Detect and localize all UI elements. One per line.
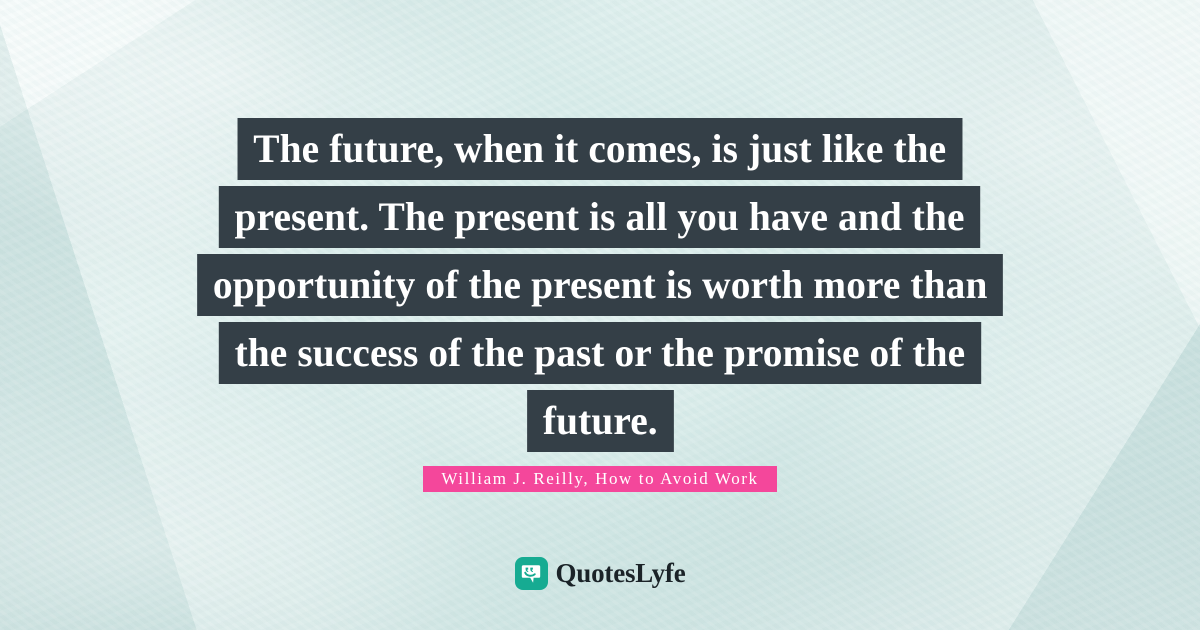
quote-text-block: The future, when it comes, is just like …: [0, 118, 1200, 452]
quote-line: present. The present is all you have and…: [219, 186, 981, 248]
quote-line: opportunity of the present is worth more…: [197, 254, 1003, 316]
quote-line: The future, when it comes, is just like …: [238, 118, 963, 180]
quote-card: The future, when it comes, is just like …: [0, 0, 1200, 630]
attribution: William J. Reilly, How to Avoid Work: [0, 466, 1200, 492]
quote-smiley-icon: [515, 557, 548, 590]
attribution-text: William J. Reilly, How to Avoid Work: [423, 466, 776, 492]
quote-line: the success of the past or the promise o…: [219, 322, 981, 384]
brand-logo: QuotesLyfe: [0, 557, 1200, 590]
brand-name: QuotesLyfe: [556, 557, 686, 590]
quote-line: future.: [527, 390, 673, 452]
